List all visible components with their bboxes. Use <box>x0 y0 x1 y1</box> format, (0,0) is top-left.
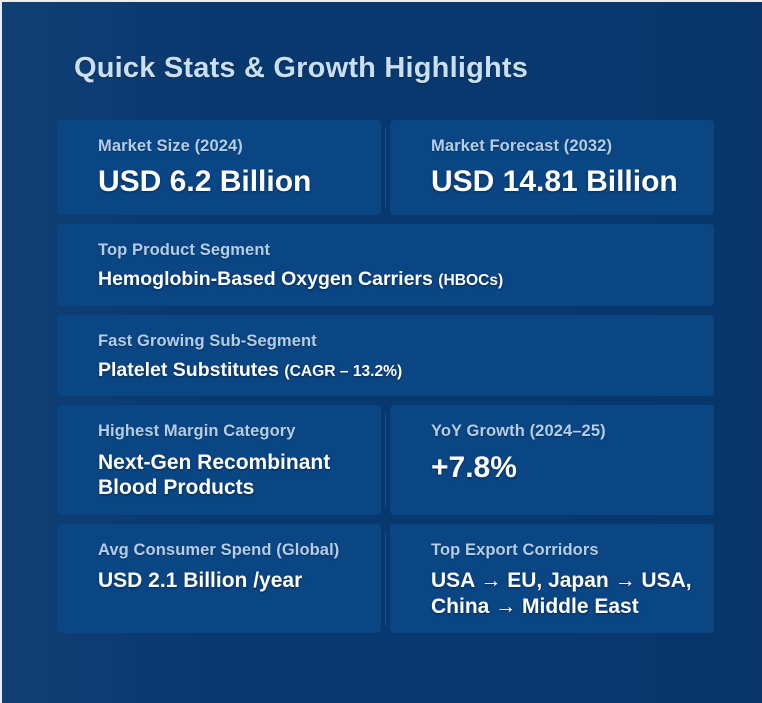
stat-value-highest-margin-category: Next-Gen Recombinant Blood Products <box>98 450 359 501</box>
stat-value-fast-growing-sub-segment-main: Platelet Substitutes <box>98 359 284 381</box>
stat-label-highest-margin-category: Highest Margin Category <box>98 421 359 442</box>
stat-card-market-size[interactable]: Market Size (2024) USD 6.2 Billion <box>57 120 381 215</box>
stat-label-market-size: Market Size (2024) <box>98 136 359 157</box>
stat-value-top-product-segment-abbr: (HBOCs) <box>438 272 503 289</box>
stats-row-fast-growing-sub-segment: Fast Growing Sub-Segment Platelet Substi… <box>57 315 714 397</box>
stat-value-top-product-segment: Hemoglobin-Based Oxygen Carriers (HBOCs) <box>98 268 674 292</box>
stat-card-highest-margin-category[interactable]: Highest Margin Category Next-Gen Recombi… <box>57 405 381 514</box>
stats-row-top-product-segment: Top Product Segment Hemoglobin-Based Oxy… <box>57 224 714 306</box>
stat-value-yoy-growth: +7.8% <box>431 450 692 487</box>
stats-row-market: Market Size (2024) USD 6.2 Billion Marke… <box>57 120 714 215</box>
stat-card-fast-growing-sub-segment[interactable]: Fast Growing Sub-Segment Platelet Substi… <box>57 315 714 397</box>
stat-label-yoy-growth: YoY Growth (2024–25) <box>431 421 692 442</box>
stat-card-top-product-segment[interactable]: Top Product Segment Hemoglobin-Based Oxy… <box>57 224 714 306</box>
stats-stack: Market Size (2024) USD 6.2 Billion Marke… <box>57 120 714 633</box>
stat-value-fast-growing-sub-segment-cagr: (CAGR – 13.2%) <box>284 363 402 380</box>
stat-value-market-size: USD 6.2 Billion <box>98 164 359 201</box>
stat-card-avg-consumer-spend[interactable]: Avg Consumer Spend (Global) USD 2.1 Bill… <box>57 524 381 633</box>
stat-label-fast-growing-sub-segment: Fast Growing Sub-Segment <box>98 331 674 352</box>
stat-label-market-forecast: Market Forecast (2032) <box>431 136 692 157</box>
stat-value-top-product-segment-main: Hemoglobin-Based Oxygen Carriers <box>98 268 438 290</box>
stat-value-market-forecast: USD 14.81 Billion <box>431 164 692 201</box>
stat-label-top-product-segment: Top Product Segment <box>98 240 674 261</box>
stat-value-fast-growing-sub-segment: Platelet Substitutes (CAGR – 13.2%) <box>98 359 674 383</box>
stat-value-top-export-corridors: USA → EU, Japan → USA, China → Middle Ea… <box>431 568 692 619</box>
stat-label-top-export-corridors: Top Export Corridors <box>431 540 692 561</box>
infographic-panel: Quick Stats & Growth Highlights Market S… <box>0 0 762 703</box>
stats-row-margin-growth: Highest Margin Category Next-Gen Recombi… <box>57 405 714 514</box>
page-title: Quick Stats & Growth Highlights <box>74 52 528 85</box>
stat-card-market-forecast[interactable]: Market Forecast (2032) USD 14.81 Billion <box>390 120 714 215</box>
stat-card-yoy-growth[interactable]: YoY Growth (2024–25) +7.8% <box>390 405 714 514</box>
stat-value-avg-consumer-spend: USD 2.1 Billion /year <box>98 568 359 594</box>
stat-card-top-export-corridors[interactable]: Top Export Corridors USA → EU, Japan → U… <box>390 524 714 633</box>
stats-row-spend-corridors: Avg Consumer Spend (Global) USD 2.1 Bill… <box>57 524 714 633</box>
stat-label-avg-consumer-spend: Avg Consumer Spend (Global) <box>98 540 359 561</box>
